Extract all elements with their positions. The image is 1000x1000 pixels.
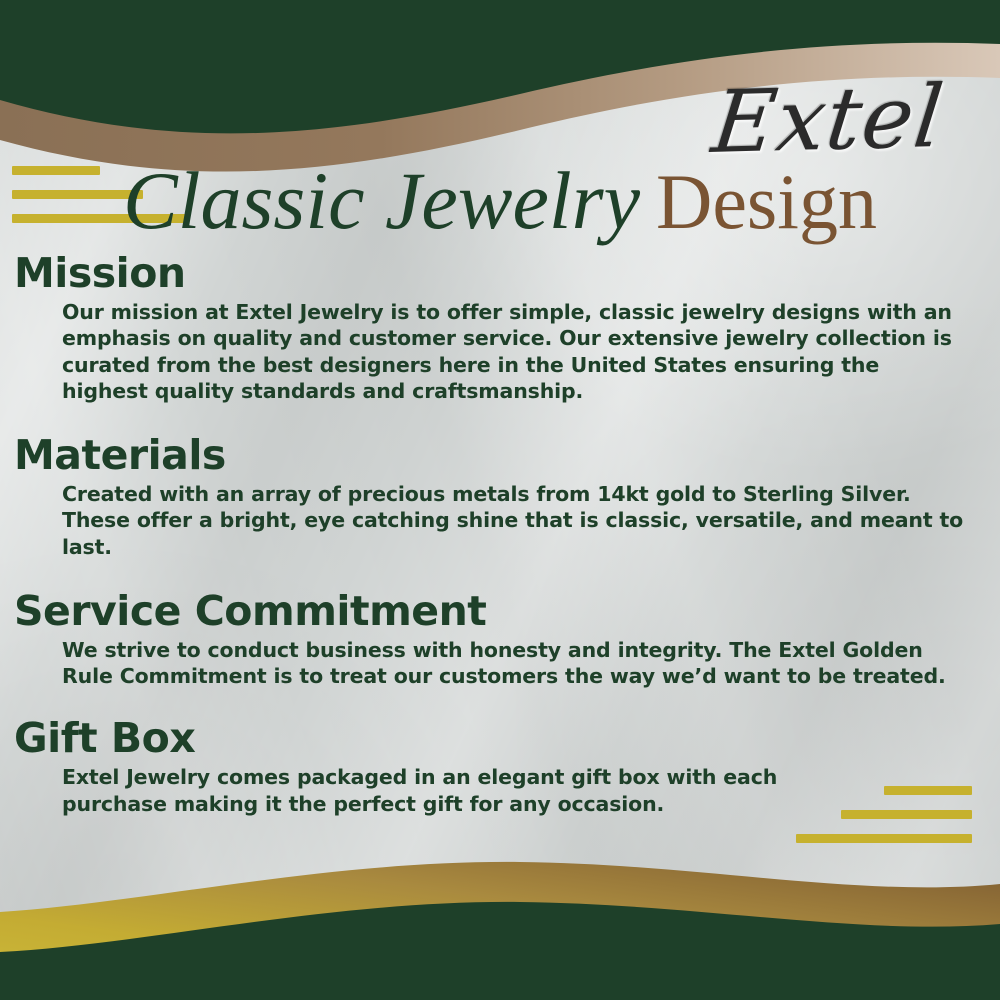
section-body-service-commitment: We strive to conduct business with hones… xyxy=(62,637,970,689)
brand-header: Extel Classic JewelryDesign xyxy=(0,74,1000,244)
section-heading-materials: Materials xyxy=(14,434,1000,477)
sections-container: Mission Our mission at Extel Jewelry is … xyxy=(0,252,1000,823)
bottom-gold-line-3 xyxy=(796,834,972,843)
section-heading-gift-box: Gift Box xyxy=(14,717,1000,760)
poster-title: Classic JewelryDesign xyxy=(0,160,1000,242)
section-body-materials: Created with an array of precious metals… xyxy=(62,481,970,560)
title-design: Design xyxy=(656,158,877,245)
poster-canvas: Extel Classic JewelryDesign Mission Our … xyxy=(0,0,1000,1000)
section-service-commitment: Service Commitment We strive to conduct … xyxy=(0,590,1000,690)
title-classic-jewelry: Classic Jewelry xyxy=(123,155,640,246)
brand-logo-extel: Extel xyxy=(708,74,948,166)
section-body-gift-box: Extel Jewelry comes packaged in an elega… xyxy=(62,764,780,816)
section-heading-service-commitment: Service Commitment xyxy=(14,590,1000,633)
section-gift-box: Gift Box Extel Jewelry comes packaged in… xyxy=(0,717,1000,817)
section-body-mission: Our mission at Extel Jewelry is to offer… xyxy=(62,299,970,404)
section-mission: Mission Our mission at Extel Jewelry is … xyxy=(0,252,1000,404)
section-heading-mission: Mission xyxy=(14,252,1000,295)
section-materials: Materials Created with an array of preci… xyxy=(0,434,1000,560)
